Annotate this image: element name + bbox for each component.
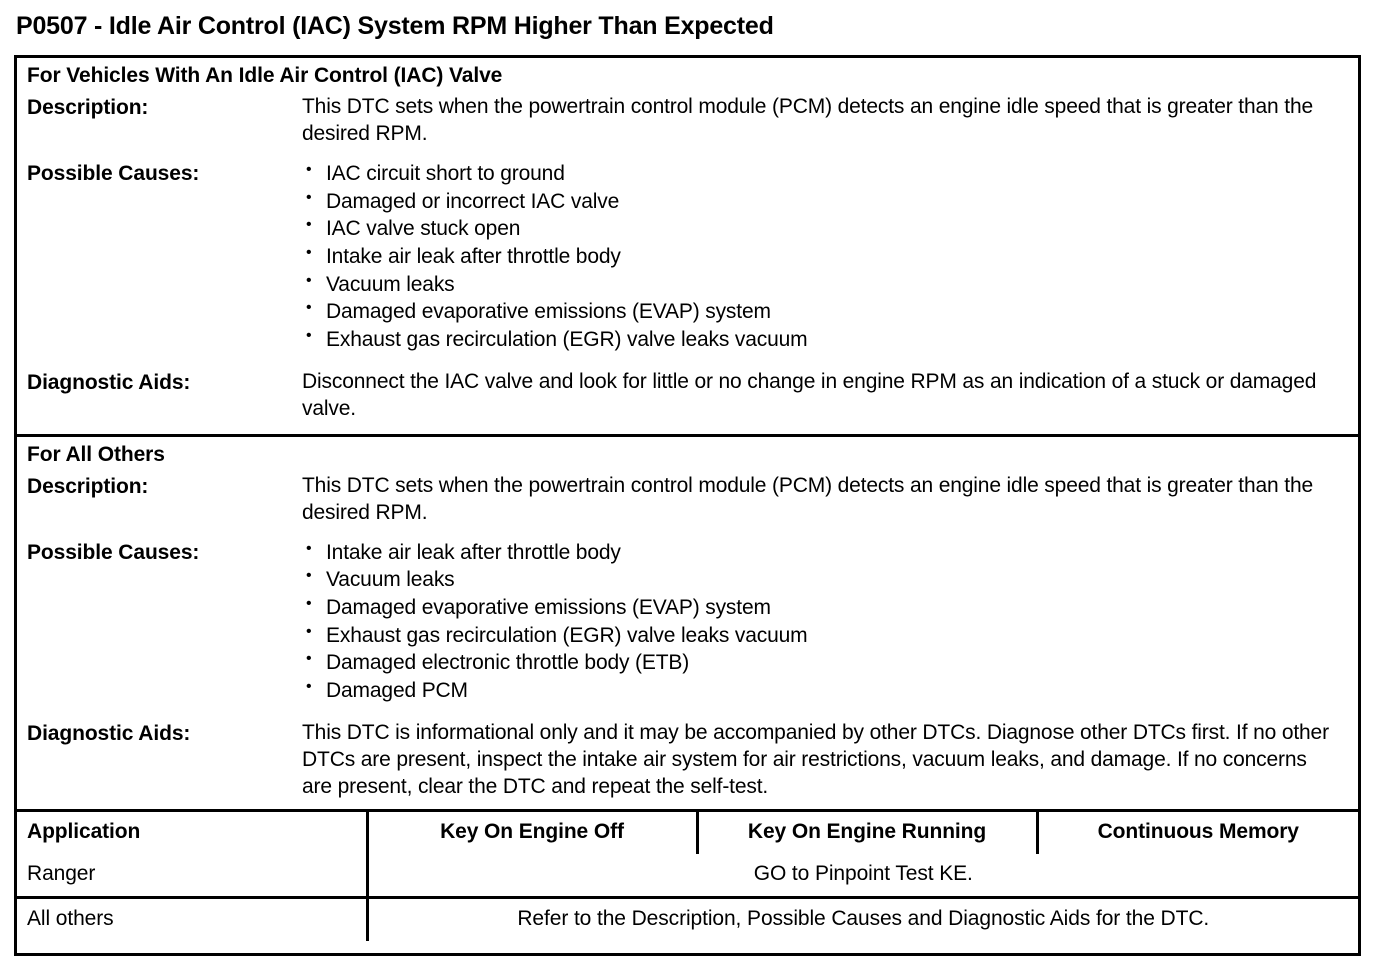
list-item: Damaged electronic throttle body (ETB) [302, 649, 1336, 677]
description-row: Description: This DTC sets when the powe… [17, 90, 1358, 148]
diagnostic-aids-label: Diagnostic Aids: [27, 720, 302, 748]
diagnostic-aids-row: Diagnostic Aids: Disconnect the IAC valv… [17, 365, 1358, 423]
list-item: Damaged evaporative emissions (EVAP) sys… [302, 298, 1336, 326]
table-header-row: Application Key On Engine Off Key On Eng… [17, 810, 1358, 854]
column-header-continuous-memory: Continuous Memory [1037, 810, 1358, 854]
possible-causes-row: Possible Causes: Intake air leak after t… [17, 535, 1358, 705]
list-item: Vacuum leaks [302, 566, 1336, 594]
cell-result: Refer to the Description, Possible Cause… [367, 897, 1358, 941]
diagnostic-aids-text: Disconnect the IAC valve and look for li… [302, 369, 1358, 423]
column-header-key-on-engine-off: Key On Engine Off [367, 810, 697, 854]
cell-application: Ranger [17, 854, 367, 898]
cell-application: All others [17, 897, 367, 941]
section-all-others: For All Others Description: This DTC set… [17, 434, 1358, 809]
column-header-key-on-engine-running: Key On Engine Running [697, 810, 1037, 854]
application-table: Application Key On Engine Off Key On Eng… [17, 809, 1358, 941]
list-item: Damaged PCM [302, 677, 1336, 705]
section-iac-valve: For Vehicles With An Idle Air Control (I… [17, 58, 1358, 434]
table-row: All others Refer to the Description, Pos… [17, 897, 1358, 941]
section-header: For All Others [17, 437, 1358, 469]
description-text: This DTC sets when the powertrain contro… [302, 473, 1358, 527]
possible-causes-list: Intake air leak after throttle body Vacu… [302, 539, 1336, 705]
description-row: Description: This DTC sets when the powe… [17, 469, 1358, 527]
description-label: Description: [27, 473, 302, 501]
diagnostic-aids-text: This DTC is informational only and it ma… [302, 720, 1358, 801]
dtc-info-box: For Vehicles With An Idle Air Control (I… [14, 55, 1361, 956]
diagnostic-aids-row: Diagnostic Aids: This DTC is information… [17, 716, 1358, 801]
possible-causes-label: Possible Causes: [27, 160, 302, 188]
column-header-application: Application [17, 810, 367, 854]
document-page: P0507 - Idle Air Control (IAC) System RP… [0, 0, 1392, 976]
page-title: P0507 - Idle Air Control (IAC) System RP… [16, 13, 774, 41]
list-item: Exhaust gas recirculation (EGR) valve le… [302, 622, 1336, 650]
list-item: IAC valve stuck open [302, 215, 1336, 243]
list-item: Vacuum leaks [302, 271, 1336, 299]
list-item: Damaged evaporative emissions (EVAP) sys… [302, 594, 1336, 622]
table-row: Ranger GO to Pinpoint Test KE. [17, 854, 1358, 898]
description-label: Description: [27, 94, 302, 122]
section-header: For Vehicles With An Idle Air Control (I… [17, 58, 1358, 90]
list-item: Intake air leak after throttle body [302, 243, 1336, 271]
list-item: IAC circuit short to ground [302, 160, 1336, 188]
diagnostic-aids-label: Diagnostic Aids: [27, 369, 302, 397]
possible-causes-label: Possible Causes: [27, 539, 302, 567]
list-item: Exhaust gas recirculation (EGR) valve le… [302, 326, 1336, 354]
possible-causes-list: IAC circuit short to ground Damaged or i… [302, 160, 1336, 354]
cell-result: GO to Pinpoint Test KE. [367, 854, 1358, 898]
list-item: Intake air leak after throttle body [302, 539, 1336, 567]
description-text: This DTC sets when the powertrain contro… [302, 94, 1358, 148]
possible-causes-row: Possible Causes: IAC circuit short to gr… [17, 156, 1358, 354]
list-item: Damaged or incorrect IAC valve [302, 188, 1336, 216]
